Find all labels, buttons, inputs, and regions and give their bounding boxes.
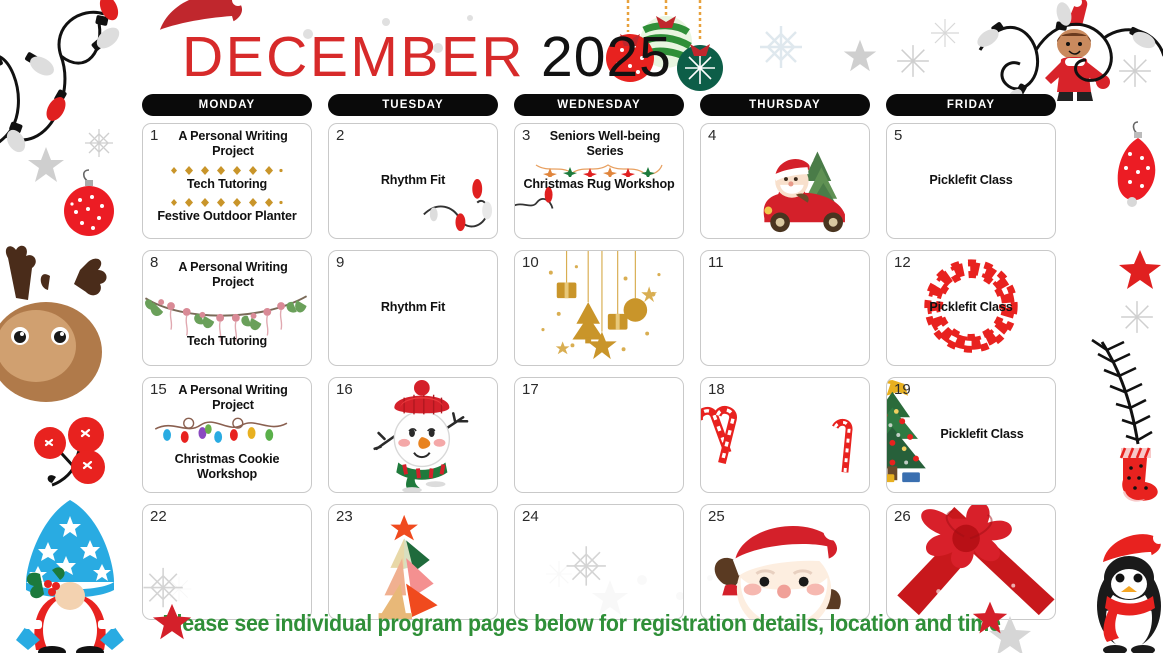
title-year: 2025 (541, 24, 672, 90)
snowflake-icon (1118, 54, 1152, 88)
event-label[interactable]: Festive Outdoor Planter (157, 209, 296, 224)
day-cell[interactable]: 18 (700, 377, 870, 493)
page-title: DECEMBER 2025 (182, 24, 672, 90)
event-label[interactable]: Rhythm Fit (381, 173, 445, 188)
event-label[interactable]: Tech Tutoring (187, 177, 267, 192)
day-header-wednesday: WEDNESDAY (514, 94, 684, 116)
day-events: Seniors Well-being Series Christmas Rug … (515, 124, 683, 238)
day-events: Rhythm Fit (329, 124, 497, 238)
day-cell[interactable]: 12 Picklefit Class (886, 250, 1056, 366)
day-cell[interactable]: 19 (886, 377, 1056, 493)
day-header-friday: FRIDAY (886, 94, 1056, 116)
pine-branch-icon (1098, 336, 1163, 456)
calendar-grid: MONDAY TUESDAY WEDNESDAY THURSDAY FRIDAY… (142, 94, 1098, 631)
day-cell[interactable]: 1 A Personal Writing Project Tech Tutori… (142, 123, 312, 239)
day-events (143, 505, 311, 619)
day-cell[interactable]: 17 (514, 377, 684, 493)
day-header-tuesday: TUESDAY (328, 94, 498, 116)
red-teardrop-bauble-icon (1112, 120, 1163, 215)
grey-star-icon (842, 38, 878, 74)
day-events (701, 378, 869, 492)
event-label[interactable]: Tech Tutoring (187, 334, 267, 349)
divider-icon (167, 195, 287, 206)
snowflake-icon (84, 128, 114, 158)
day-cell[interactable]: 4 (700, 123, 870, 239)
calendar-page: DECEMBER 2025 MONDAY TUESDAY WEDNESDAY T… (0, 0, 1163, 653)
day-events (515, 505, 683, 619)
day-cell[interactable]: 23 (328, 504, 498, 620)
day-events: A Personal Writing Project Tech Tutoring… (143, 124, 311, 238)
day-header-monday: MONDAY (142, 94, 312, 116)
day-cell[interactable]: 2 Rhythm Fit (328, 123, 498, 239)
day-cell[interactable]: 15 (142, 377, 312, 493)
red-dotted-bauble-icon (58, 168, 120, 238)
day-cell[interactable]: 9 Rhythm Fit (328, 250, 498, 366)
day-events: A Personal Writing Project Tech Tutoring (143, 251, 311, 365)
day-cell[interactable]: 16 (328, 377, 498, 493)
day-events (887, 505, 1055, 619)
day-events: Picklefit Class (887, 251, 1055, 365)
day-cell[interactable]: 25 (700, 504, 870, 620)
day-events (515, 251, 683, 365)
holly-berries-icon (22, 415, 122, 505)
day-events (701, 124, 869, 238)
banner-text: Please see individual program pages belo… (162, 610, 1000, 637)
event-label[interactable]: Picklefit Class (940, 427, 1023, 442)
divider-icon (167, 163, 287, 174)
day-cell[interactable]: 3 Seniors Well-being Series Christmas Ru… (514, 123, 684, 239)
snowflake-icon (1120, 300, 1154, 334)
snowflake-icon (896, 44, 930, 78)
reindeer-face-icon (0, 240, 123, 390)
day-cell[interactable]: 24 (514, 504, 684, 620)
event-label[interactable]: Seniors Well-being Series (533, 129, 677, 160)
event-label[interactable]: Rhythm Fit (381, 300, 445, 315)
event-label[interactable]: Picklefit Class (929, 173, 1012, 188)
title-month: DECEMBER (182, 24, 525, 90)
snowflake-icon (930, 18, 960, 48)
day-events (701, 251, 869, 365)
day-events: Rhythm Fit (329, 251, 497, 365)
registration-banner: Please see individual program pages belo… (0, 610, 1163, 637)
event-label[interactable]: Picklefit Class (929, 300, 1012, 315)
day-events (701, 505, 869, 619)
day-events (515, 378, 683, 492)
grey-star-icon (26, 145, 66, 185)
stocking-icon (1115, 444, 1163, 502)
day-events: Picklefit Class (887, 378, 1055, 492)
day-cell[interactable]: 11 (700, 250, 870, 366)
day-cell[interactable]: 5 Picklefit Class (886, 123, 1056, 239)
elf-icon (1035, 0, 1115, 101)
event-label[interactable]: Christmas Rug Workshop (523, 177, 674, 192)
day-events: A Personal Writing Project Christmas Coo… (143, 378, 311, 492)
day-events (329, 505, 497, 619)
red-star-icon (1118, 248, 1162, 292)
day-header-thursday: THURSDAY (700, 94, 870, 116)
event-label[interactable]: A Personal Writing Project (161, 383, 305, 414)
star-garland-icon (534, 163, 664, 174)
day-cell[interactable]: 26 (886, 504, 1056, 620)
day-cell[interactable]: 22 (142, 504, 312, 620)
snowflake-icon (758, 24, 804, 70)
event-label[interactable]: Christmas Cookie Workshop (149, 452, 305, 483)
day-cell[interactable]: 10 (514, 250, 684, 366)
day-cell[interactable]: 8 (142, 250, 312, 366)
event-label[interactable]: A Personal Writing Project (161, 260, 305, 291)
event-label[interactable]: A Personal Writing Project (161, 129, 305, 160)
day-events (329, 378, 497, 492)
day-events: Picklefit Class (887, 124, 1055, 238)
